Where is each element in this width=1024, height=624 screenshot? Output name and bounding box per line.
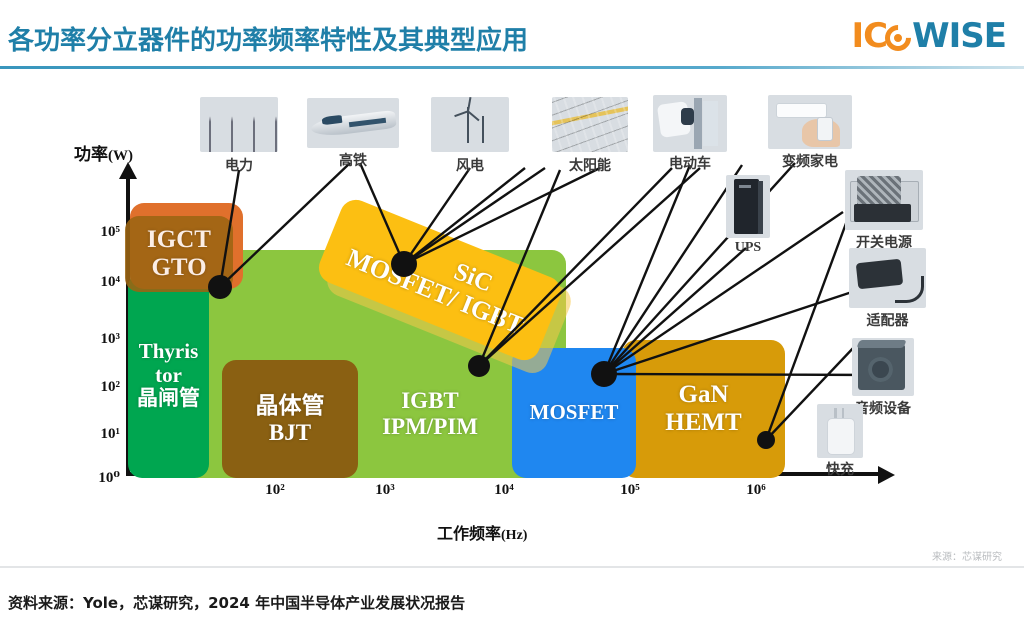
y-tick-1e3: 10³ <box>76 331 120 348</box>
app-label-charger: 快充 <box>826 459 854 479</box>
y-tick-1e0: 10⁰ <box>76 468 120 487</box>
x-tick-1e3: 10³ <box>355 482 415 499</box>
app-thumb-ev[interactable]: 电动车 <box>653 95 727 152</box>
x-axis-title: 工作频率(Hz) <box>437 520 527 544</box>
region-gan-line1: GaN <box>679 381 729 408</box>
app-label-adapter: 适配器 <box>867 310 909 330</box>
app-label-ac: 变频家电 <box>782 151 838 171</box>
region-gan[interactable]: GaN HEMT <box>622 340 785 478</box>
app-thumb-rail[interactable]: 高铁 <box>307 98 399 148</box>
region-bjt-line1: 晶体管 <box>256 393 325 419</box>
app-thumb-power[interactable]: 电力 <box>200 97 278 152</box>
region-igbt-label: IGBT IPM/PIM <box>340 388 520 441</box>
region-igct-line1: IGCT <box>147 226 211 253</box>
app-label-rail: 高铁 <box>339 150 367 170</box>
solar-panel-icon <box>552 97 628 152</box>
app-thumb-wind[interactable]: 风电 <box>431 97 509 152</box>
switching-power-supply-icon <box>845 170 923 230</box>
logo-ic-text: IC <box>852 16 888 56</box>
train-icon <box>307 98 399 148</box>
audio-speaker-icon <box>852 338 914 396</box>
chart-source-note: 来源：芯谋研究 <box>932 548 1002 563</box>
x-axis-arrow-icon <box>878 466 895 484</box>
slide-root: 各功率分立器件的功率频率特性及其典型应用 ICWISE 功率(W) 工作频率(H… <box>0 0 1024 624</box>
region-thyristor-line3: 晶闸管 <box>137 386 200 410</box>
region-gan-line2: HEMT <box>665 409 741 436</box>
app-thumb-adapter[interactable]: 适配器 <box>849 248 926 308</box>
region-bjt-line2: BJT <box>269 420 311 445</box>
power-adapter-icon <box>849 248 926 308</box>
app-thumb-solar[interactable]: 太阳能 <box>552 97 628 152</box>
power-grid-icon <box>200 97 278 152</box>
fast-charger-icon <box>817 404 863 458</box>
brand-logo: ICWISE <box>852 14 1006 58</box>
ups-icon <box>726 175 770 238</box>
region-mosfet-label: MOSFET <box>530 401 619 425</box>
app-label-solar: 太阳能 <box>569 155 611 175</box>
app-label-audio: 音频设备 <box>855 398 911 418</box>
app-label-ev: 电动车 <box>669 153 711 173</box>
x-tick-1e5: 10⁵ <box>600 482 660 499</box>
region-igct[interactable]: IGCT GTO <box>125 216 233 292</box>
region-igbt-line2: IPM/PIM <box>382 414 478 439</box>
region-thyristor-line2: tor <box>155 363 182 387</box>
x-tick-1e2: 10² <box>245 482 305 499</box>
app-thumb-ac[interactable]: 变频家电 <box>768 95 852 149</box>
wind-turbine-icon <box>431 97 509 152</box>
y-axis-title: 功率(W) <box>74 140 133 165</box>
y-tick-1e1: 10¹ <box>76 426 120 443</box>
app-thumb-charger[interactable]: 快充 <box>817 404 863 458</box>
region-bjt[interactable]: 晶体管 BJT <box>222 360 358 478</box>
app-label-ups: UPS <box>735 240 761 256</box>
footer-divider <box>0 566 1024 568</box>
logo-wise-text: WISE <box>912 16 1006 56</box>
app-thumb-psu[interactable]: 开关电源 <box>845 170 923 230</box>
y-tick-1e2: 10² <box>76 379 120 396</box>
air-conditioner-icon <box>768 95 852 149</box>
region-igbt-line1: IGBT <box>401 388 459 413</box>
app-label-power: 电力 <box>225 155 253 175</box>
y-axis-ticks: 10⁵ 10⁴ 10³ 10² 10¹ 10⁰ <box>72 176 120 476</box>
y-tick-1e5: 10⁵ <box>76 224 120 241</box>
slide-header: 各功率分立器件的功率频率特性及其典型应用 ICWISE <box>0 0 1024 72</box>
y-tick-1e4: 10⁴ <box>76 274 120 291</box>
footer-source: 资料来源：Yole，芯谋研究，2024 年中国半导体产业发展状况报告 <box>8 592 465 613</box>
region-thyristor-line1: Thyris <box>139 339 199 363</box>
app-thumb-ups[interactable]: UPS <box>726 175 770 238</box>
ev-charging-icon <box>653 95 727 152</box>
page-title: 各功率分立器件的功率频率特性及其典型应用 <box>8 20 528 57</box>
x-tick-1e4: 10⁴ <box>474 482 534 499</box>
region-igct-line2: GTO <box>151 254 206 281</box>
app-thumb-audio[interactable]: 音频设备 <box>852 338 914 396</box>
region-thyristor[interactable]: Thyris tor 晶闸管 <box>128 273 209 478</box>
x-tick-1e6: 10⁶ <box>726 482 786 499</box>
title-divider <box>0 66 1024 69</box>
app-label-wind: 风电 <box>456 155 484 175</box>
